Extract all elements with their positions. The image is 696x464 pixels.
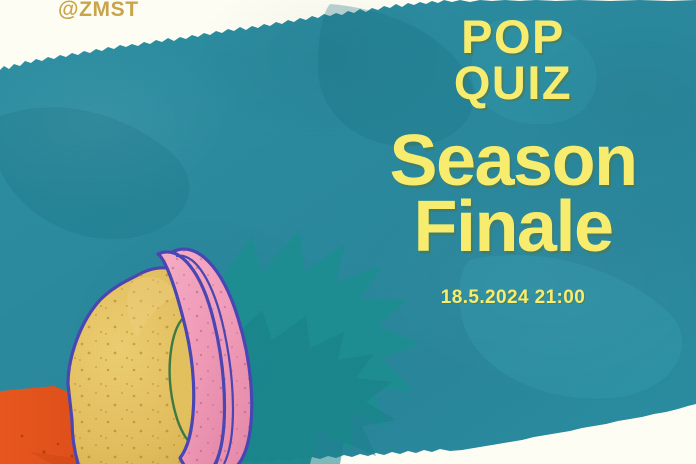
- subtitle-line-2: Finale: [330, 194, 696, 260]
- subtitle-line-1: Season: [330, 128, 696, 194]
- page-title: POP QUIZ: [330, 14, 696, 106]
- subtitle: Season Finale: [330, 128, 696, 260]
- social-handle: @ZMŠT: [58, 0, 139, 22]
- title-line-2: QUIZ: [330, 60, 696, 106]
- event-datetime: 18.5.2024 21:00: [330, 287, 696, 309]
- title-line-1: POP: [330, 14, 696, 60]
- poster-copy: POP QUIZ Season Finale 18.5.2024 21:00: [330, 14, 696, 309]
- poster: @ZMŠT POP QUIZ Season Finale 18.5.2024 2…: [0, 0, 696, 464]
